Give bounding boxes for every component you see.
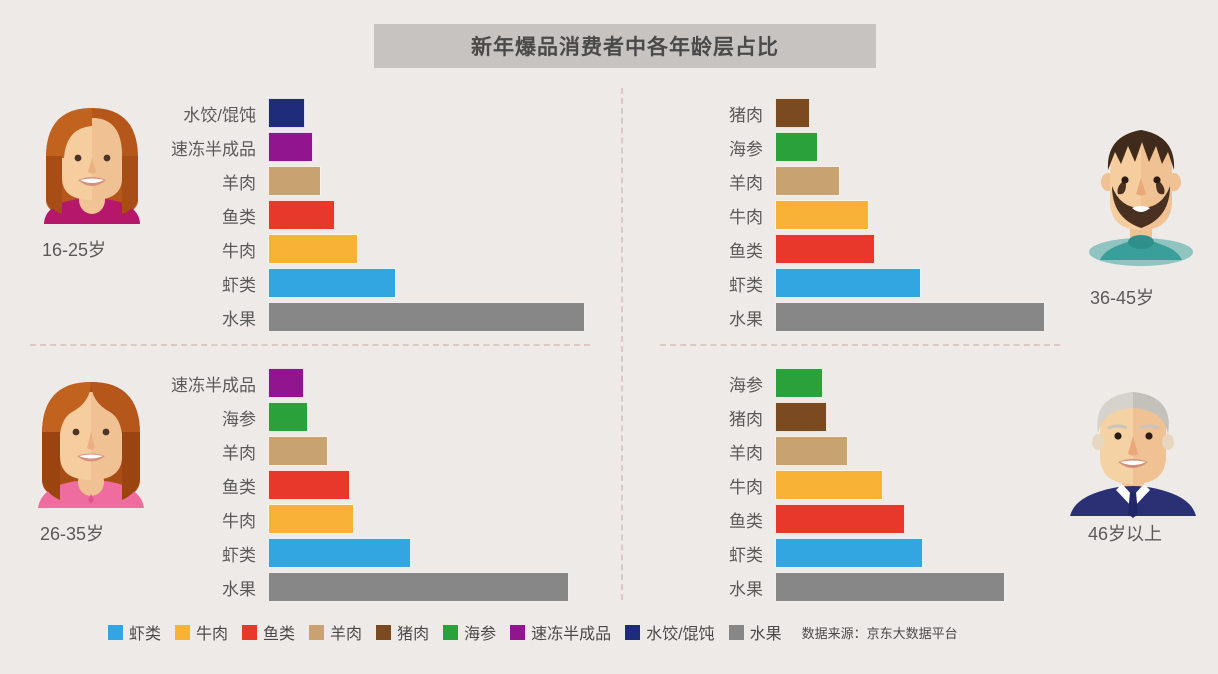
bar[interactable] [268,436,328,466]
legend-swatch-icon [108,625,123,640]
bar-row: 速冻半成品 [132,368,602,398]
bar-track [775,368,1075,398]
bar-track [268,368,602,398]
bar-category-label: 水果 [675,305,775,330]
bar-row: 羊肉 [675,166,1075,196]
bar-track [775,402,1075,432]
legend-swatch-icon [309,625,324,640]
bar-row: 海参 [675,132,1075,162]
legend-item[interactable]: 猪肉 [376,620,429,644]
bar-track [268,132,610,162]
bar-category-label: 牛肉 [132,507,268,532]
bar[interactable] [775,302,1045,332]
bar-track [775,470,1075,500]
bar-track [775,200,1075,230]
legend-swatch-icon [443,625,458,640]
bar-track [775,98,1075,128]
bar-category-label: 虾类 [675,541,775,566]
bar-row: 速冻半成品 [150,132,610,162]
legend-item[interactable]: 速冻半成品 [510,620,611,644]
bar-category-label: 鱼类 [675,507,775,532]
bar[interactable] [775,234,875,264]
bar-row: 海参 [675,368,1075,398]
bar-row: 猪肉 [675,98,1075,128]
young-woman-avatar [38,96,146,236]
bar[interactable] [268,504,354,534]
title-band: 新年爆品消费者中各年龄层占比 [374,24,876,68]
bar[interactable] [268,402,308,432]
legend-item[interactable]: 水饺/馄饨 [625,620,714,644]
bar-row: 虾类 [132,538,602,568]
legend-swatch-icon [242,625,257,640]
bar-category-label: 海参 [675,371,775,396]
bar-category-label: 水果 [675,575,775,600]
elderly-man-avatar [1068,380,1198,525]
bar-category-label: 水果 [150,305,268,330]
bar-track [775,234,1075,264]
bar-track [268,572,602,602]
bar-row: 虾类 [675,268,1075,298]
bar-row: 鱼类 [150,200,610,230]
bar-category-label: 鱼类 [675,237,775,262]
bar-row: 鱼类 [675,234,1075,264]
chart-panel-16-25: 水饺/馄饨速冻半成品羊肉鱼类牛肉虾类水果 [150,98,610,336]
bar[interactable] [775,402,827,432]
legend-label: 虾类 [129,620,161,644]
bar-track [775,268,1075,298]
bar[interactable] [775,132,818,162]
legend-item[interactable]: 鱼类 [242,620,295,644]
legend-swatch-icon [625,625,640,640]
bar-track [268,302,610,332]
legend-label: 水果 [750,620,782,644]
bar-row: 水果 [132,572,602,602]
legend-swatch-icon [175,625,190,640]
bar[interactable] [268,368,304,398]
bar[interactable] [775,268,921,298]
bar-row: 牛肉 [132,504,602,534]
bar-category-label: 牛肉 [150,237,268,262]
bar-track [268,402,602,432]
legend-item[interactable]: 羊肉 [309,620,362,644]
bar[interactable] [775,368,823,398]
vertical-divider [621,88,623,600]
legend-item[interactable]: 虾类 [108,620,161,644]
bar-track [268,98,610,128]
page-title: 新年爆品消费者中各年龄层占比 [471,31,779,61]
bar-row: 牛肉 [150,234,610,264]
bar[interactable] [775,166,840,196]
bar-row: 水果 [150,302,610,332]
legend-label: 水饺/馄饨 [646,620,714,644]
bar-row: 牛肉 [675,470,1075,500]
data-source-note: 数据来源：京东大数据平台 [802,623,958,642]
bar-row: 鱼类 [132,470,602,500]
legend-label: 羊肉 [330,620,362,644]
bar-track [775,132,1075,162]
bar-category-label: 水饺/馄饨 [150,101,268,126]
bar-category-label: 水果 [132,575,268,600]
bar-category-label: 羊肉 [132,439,268,464]
bar-row: 羊肉 [675,436,1075,466]
legend-item[interactable]: 水果 [729,620,782,644]
bar-category-label: 虾类 [132,541,268,566]
bar-category-label: 牛肉 [675,473,775,498]
chart-panel-26-35: 速冻半成品海参羊肉鱼类牛肉虾类水果 [132,368,602,606]
horizontal-divider-right [660,344,1060,346]
legend-swatch-icon [729,625,744,640]
bar-category-label: 羊肉 [150,169,268,194]
infographic-root: 新年爆品消费者中各年龄层占比 16-25岁 [0,0,1218,674]
bar[interactable] [775,200,869,230]
bar-row: 海参 [132,402,602,432]
bar-category-label: 速冻半成品 [132,371,268,396]
bar-row: 羊肉 [150,166,610,196]
bar-category-label: 牛肉 [675,203,775,228]
bar-row: 水饺/馄饨 [150,98,610,128]
legend: 虾类牛肉鱼类羊肉猪肉海参速冻半成品水饺/馄饨水果 数据来源：京东大数据平台 [108,620,958,644]
bar-track [775,572,1075,602]
bar-row: 水果 [675,302,1075,332]
bar[interactable] [775,504,905,534]
bar-category-label: 虾类 [150,271,268,296]
bar-row: 虾类 [675,538,1075,568]
legend-items: 虾类牛肉鱼类羊肉猪肉海参速冻半成品水饺/馄饨水果 [108,620,796,644]
bar[interactable] [268,200,335,230]
bar-category-label: 羊肉 [675,169,775,194]
bar-row: 羊肉 [132,436,602,466]
bar-category-label: 鱼类 [150,203,268,228]
bar[interactable] [775,98,810,128]
bar-track [268,234,610,264]
bar[interactable] [268,538,411,568]
legend-label: 鱼类 [263,620,295,644]
bar[interactable] [268,132,313,162]
bar[interactable] [268,470,350,500]
bar-row: 虾类 [150,268,610,298]
bar-track [268,166,610,196]
legend-label: 猪肉 [397,620,429,644]
age-label-26-35: 26-35岁 [40,520,104,546]
bar-rows: 海参猪肉羊肉牛肉鱼类虾类水果 [675,368,1075,602]
bar-track [268,538,602,568]
bar-track [775,504,1075,534]
legend-label: 牛肉 [196,620,228,644]
bar-row: 牛肉 [675,200,1075,230]
bar-category-label: 虾类 [675,271,775,296]
age-label-16-25: 16-25岁 [42,236,106,262]
bar-rows: 猪肉海参羊肉牛肉鱼类虾类水果 [675,98,1075,332]
bar-track [268,200,610,230]
chart-panel-46-plus: 海参猪肉羊肉牛肉鱼类虾类水果 [675,368,1075,606]
bar[interactable] [775,436,848,466]
chart-panel-36-45: 猪肉海参羊肉牛肉鱼类虾类水果 [675,98,1075,336]
bar[interactable] [268,268,396,298]
bar[interactable] [775,470,883,500]
legend-label: 速冻半成品 [531,620,611,644]
age-label-36-45: 36-45岁 [1090,284,1154,310]
bar-track [775,166,1075,196]
bar-track [268,504,602,534]
bar[interactable] [268,166,321,196]
bar-track [268,436,602,466]
bar-category-label: 海参 [132,405,268,430]
horizontal-divider-left [30,344,590,346]
bar[interactable] [775,538,923,568]
bar-category-label: 速冻半成品 [150,135,268,160]
bar-rows: 速冻半成品海参羊肉鱼类牛肉虾类水果 [132,368,602,602]
bar-category-label: 羊肉 [675,439,775,464]
bar[interactable] [268,98,305,128]
bar-category-label: 猪肉 [675,405,775,430]
bar-row: 水果 [675,572,1075,602]
age-label-46-plus: 46岁以上 [1088,520,1162,546]
legend-swatch-icon [510,625,525,640]
legend-label: 海参 [464,620,496,644]
bar-track [268,470,602,500]
legend-swatch-icon [376,625,391,640]
bar[interactable] [775,572,1005,602]
bar[interactable] [268,234,358,264]
legend-item[interactable]: 牛肉 [175,620,228,644]
bearded-man-avatar [1082,112,1200,272]
bar-rows: 水饺/馄饨速冻半成品羊肉鱼类牛肉虾类水果 [150,98,610,332]
bar-row: 鱼类 [675,504,1075,534]
bar-category-label: 鱼类 [132,473,268,498]
bar-category-label: 猪肉 [675,101,775,126]
bar-track [775,538,1075,568]
bar-row: 猪肉 [675,402,1075,432]
bar[interactable] [268,572,569,602]
bar-track [775,302,1075,332]
bar-category-label: 海参 [675,135,775,160]
bar-track [268,268,610,298]
bar[interactable] [268,302,585,332]
legend-item[interactable]: 海参 [443,620,496,644]
bar-track [775,436,1075,466]
